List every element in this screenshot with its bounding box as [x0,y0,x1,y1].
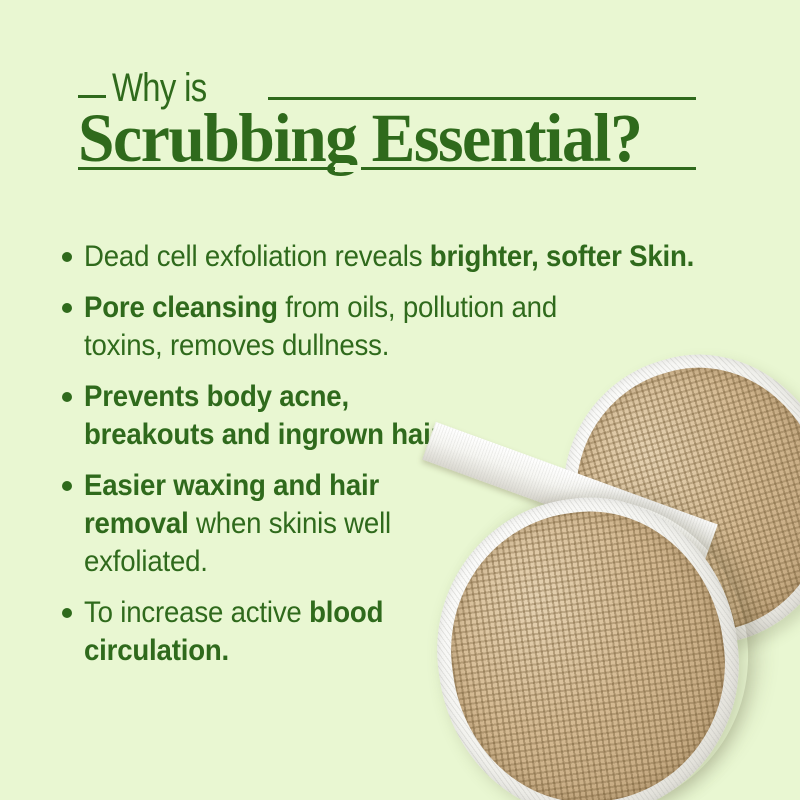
product-image-scrub-pads [430,350,800,800]
bullet-dot-icon [62,252,72,262]
title-row: Scrubbing Essential? [78,102,696,180]
list-item-emphasis: brighter, softer Skin. [430,240,694,273]
list-item-lead: Dead cell exfoliation reveals [84,240,430,273]
list-item-text: To increase active blood circulation. [84,594,452,670]
bullet-dot-icon [62,481,72,491]
page-title: Scrubbing Essential? [78,102,641,174]
list-item-text: Easier waxing and hair removal when skin… [84,467,452,581]
bullet-dot-icon [62,303,72,313]
bullet-dot-icon [62,608,72,618]
list-item-lead: To increase active [84,596,309,629]
kicker-left-dash [78,95,106,98]
title-rule-descender-gap [335,165,361,172]
list-item-text: Prevents body acne, breakouts and ingrow… [84,378,480,454]
scrubbing-benefits-poster: Why is Scrubbing Essential? Dead cell ex… [0,0,800,800]
title-underline-rule [78,167,696,170]
list-item-emphasis: Pore cleansing [84,291,278,324]
bullet-dot-icon [62,392,72,402]
list-item-emphasis: Prevents body acne, breakouts and ingrow… [84,380,447,451]
poster-header: Why is Scrubbing Essential? [0,0,800,190]
list-item: Dead cell exfoliation reveals brighter, … [62,238,762,276]
list-item-text: Dead cell exfoliation reveals brighter, … [84,238,708,276]
